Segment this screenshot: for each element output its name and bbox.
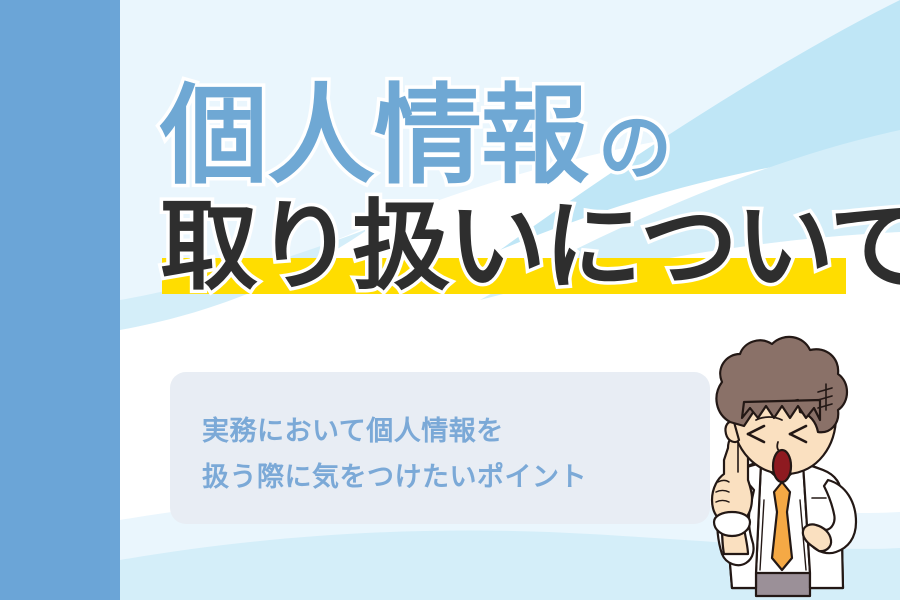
- character-illustration: [660, 330, 900, 600]
- mouth-open: [773, 450, 791, 482]
- subtitle-line-1: 実務において個人情報を: [202, 408, 722, 454]
- headline-line-2-wrapper: 取り扱いについて: [160, 196, 880, 304]
- subtitle-line-2: 扱う際に気をつけたいポイント: [202, 454, 722, 500]
- headline-line-2: 取り扱いについて: [160, 196, 880, 298]
- ribbon-background: [0, 0, 120, 600]
- trousers: [756, 572, 810, 596]
- headline-group: 個人情報 の 取り扱いについて: [160, 82, 880, 304]
- banner-canvas: WEB知識 個人情報 の 取り扱いについて 実務において個人情報を 扱う際に気を…: [0, 0, 900, 600]
- headline-main-term: 個人情報: [160, 82, 588, 190]
- headline-line-1: 個人情報 の: [160, 82, 880, 190]
- necktie: [772, 482, 792, 570]
- category-ribbon: WEB知識: [0, 0, 120, 600]
- headline-particle-no: の: [598, 111, 672, 185]
- subtitle-text: 実務において個人情報を 扱う際に気をつけたいポイント: [202, 408, 722, 501]
- sleeve-cuff-left: [714, 512, 750, 536]
